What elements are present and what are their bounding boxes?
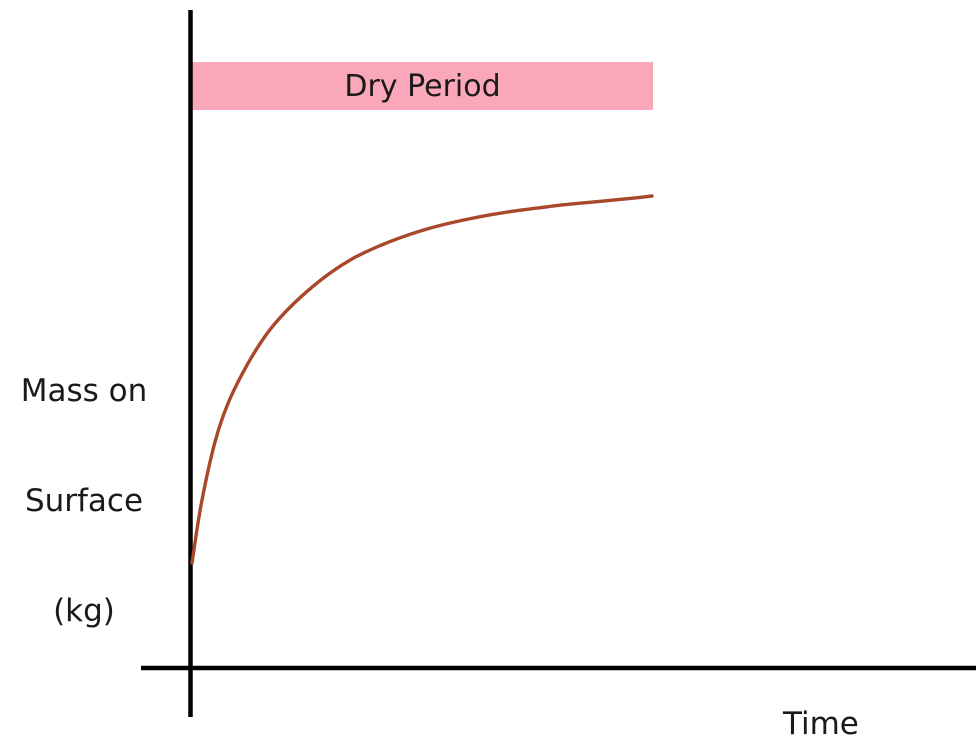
data-series-curve [192, 196, 652, 563]
x-axis-label: Time [783, 706, 859, 743]
dry-period-band [192, 62, 653, 110]
y-axis-label-line-1: Mass on [0, 373, 168, 410]
y-axis-label-line-3: (kg) [0, 593, 168, 630]
y-axis-label: Mass on Surface (kg) [0, 300, 168, 702]
chart-figure: Mass on Surface (kg) Time Dry Period [0, 0, 976, 755]
y-axis-label-line-2: Surface [0, 483, 168, 520]
